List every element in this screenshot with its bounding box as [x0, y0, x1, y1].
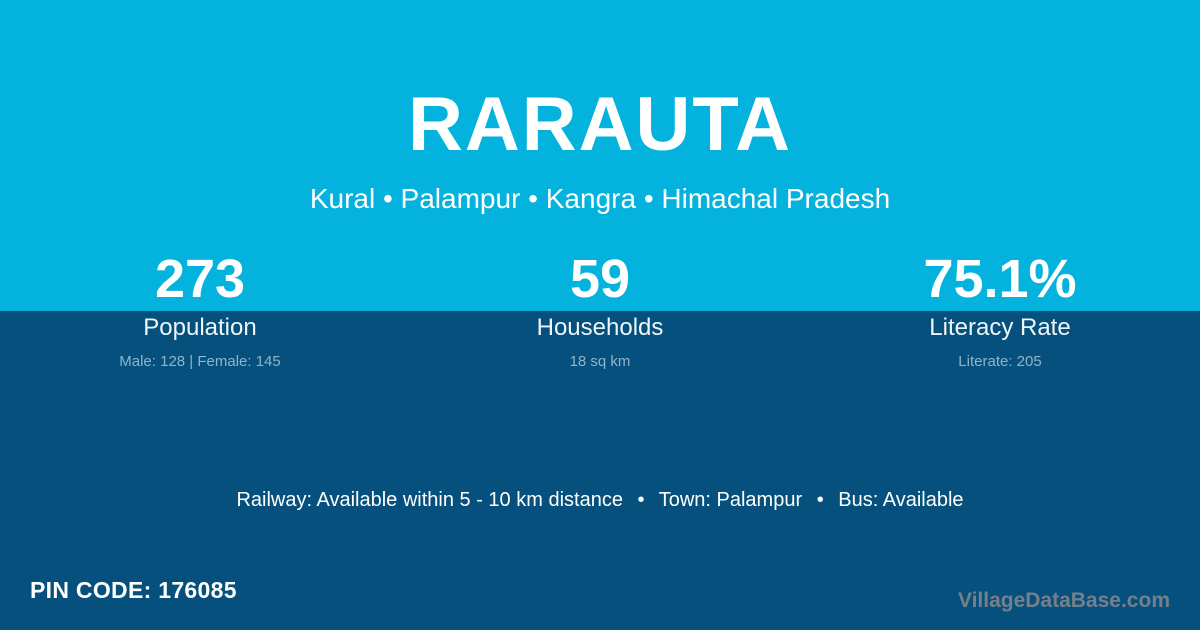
stat-sublabel: 18 sq km — [570, 352, 631, 372]
card-content: RARAUTA Kural • Palampur • Kangra • Hima… — [0, 0, 1200, 630]
bullet-separator-icon: • — [808, 489, 833, 511]
stat-population: 273 Population Male: 128 | Female: 145 — [0, 246, 400, 372]
site-watermark: VillageDataBase.com — [958, 588, 1170, 614]
stat-sublabel: Male: 128 | Female: 145 — [119, 352, 280, 372]
stat-literacy-rate: 75.1% Literacy Rate Literate: 205 — [800, 246, 1200, 372]
village-info-card: RARAUTA Kural • Palampur • Kangra • Hima… — [0, 0, 1200, 630]
stat-value: 75.1% — [923, 246, 1076, 311]
stat-label: Households — [537, 313, 664, 343]
stat-households: 59 Households 18 sq km — [400, 246, 800, 372]
village-location-breadcrumb: Kural • Palampur • Kangra • Himachal Pra… — [0, 182, 1200, 216]
facilities-line: Railway: Available within 5 - 10 km dist… — [0, 486, 1200, 514]
facility-bus: Bus: Available — [838, 489, 963, 511]
village-name-title: RARAUTA — [0, 85, 1200, 165]
facility-railway: Railway: Available within 5 - 10 km dist… — [236, 489, 622, 511]
stat-value: 59 — [570, 246, 630, 311]
facility-town: Town: Palampur — [659, 489, 802, 511]
stat-value: 273 — [155, 246, 245, 311]
stats-row: 273 Population Male: 128 | Female: 145 5… — [0, 246, 1200, 372]
bullet-separator-icon: • — [629, 489, 654, 511]
stat-label: Population — [143, 313, 256, 343]
pin-code-label: PIN CODE: 176085 — [30, 575, 237, 605]
stat-sublabel: Literate: 205 — [958, 352, 1041, 372]
stat-label: Literacy Rate — [929, 313, 1070, 343]
